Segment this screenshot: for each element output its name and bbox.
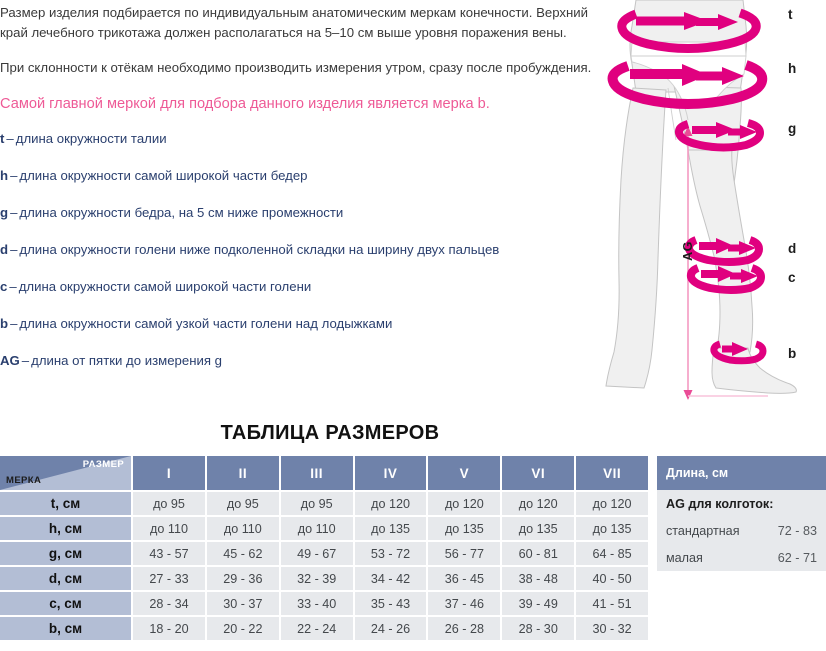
cell: до 135 (500, 515, 574, 540)
cell: 37 - 46 (426, 590, 500, 615)
legend-key: g (0, 205, 8, 220)
measurement-legend: t–длина окружности талии h–длина окружно… (0, 130, 612, 369)
cell: 60 - 81 (500, 540, 574, 565)
diagram-label-d: d (788, 242, 796, 256)
length-panel-body: AG для колготок: стандартная 72 - 83 мал… (657, 490, 826, 571)
cell: 33 - 40 (279, 590, 353, 615)
length-panel: Длина, см AG для колготок: стандартная 7… (657, 456, 826, 571)
length-row-value: 62 - 71 (778, 551, 817, 565)
column-header-4: IV (353, 456, 427, 490)
legend-dash: – (8, 205, 19, 220)
length-panel-subtitle: AG для колготок: (666, 497, 817, 511)
legend-item-h: h–длина окружности самой широкой части б… (0, 167, 612, 184)
corner-size-label: РАЗМЕР (83, 459, 124, 470)
cell: до 120 (574, 490, 648, 515)
diagram-label-h: h (788, 62, 796, 76)
diagram-label-t: t (788, 8, 793, 22)
diagram-label-g: g (788, 122, 796, 136)
intro-text-column: Размер изделия подбирается по индивидуал… (0, 0, 612, 389)
cell: 30 - 37 (205, 590, 279, 615)
legend-item-b: b–длина окружности самой узкой части гол… (0, 315, 612, 332)
table-row: h, см до 110 до 110 до 110 до 135 до 135… (0, 515, 648, 540)
cell: 39 - 49 (500, 590, 574, 615)
column-header-5: V (426, 456, 500, 490)
cell: до 110 (131, 515, 205, 540)
corner-measure-label: МЕРКА (6, 475, 41, 486)
row-label-g: g, см (0, 540, 131, 565)
cell: 28 - 30 (500, 615, 574, 640)
cell: 40 - 50 (574, 565, 648, 590)
row-label-h: h, см (0, 515, 131, 540)
cell: 64 - 85 (574, 540, 648, 565)
inner-thigh-line (668, 88, 676, 140)
highlight-note: Самой главной меркой для подбора данного… (0, 94, 612, 114)
cell: до 135 (574, 515, 648, 540)
cell: 30 - 32 (574, 615, 648, 640)
column-header-6: VI (500, 456, 574, 490)
legend-dash: – (4, 131, 15, 146)
table-row: d, см 27 - 33 29 - 36 32 - 39 34 - 42 36… (0, 565, 648, 590)
length-panel-header: Длина, см (657, 456, 826, 490)
cell: до 95 (205, 490, 279, 515)
size-table-title: ТАБЛИЦА РАЗМЕРОВ (0, 422, 660, 445)
legend-item-c: c–длина окружности самой широкой части г… (0, 278, 612, 295)
ring-c (691, 266, 761, 290)
cell: 24 - 26 (353, 615, 427, 640)
cell: 22 - 24 (279, 615, 353, 640)
row-label-t: t, см (0, 490, 131, 515)
legend-description: длина окружности бедра, на 5 см ниже про… (19, 205, 343, 220)
cell: до 95 (131, 490, 205, 515)
diagram-label-c: c (788, 271, 796, 285)
legend-key: AG (0, 353, 20, 368)
cell: 20 - 22 (205, 615, 279, 640)
cell: 35 - 43 (353, 590, 427, 615)
legend-key: d (0, 242, 8, 257)
cell: до 120 (353, 490, 427, 515)
length-row-value: 72 - 83 (778, 524, 817, 538)
table-row: g, см 43 - 57 45 - 62 49 - 67 53 - 72 56… (0, 540, 648, 565)
cell: до 95 (279, 490, 353, 515)
cell: до 110 (279, 515, 353, 540)
row-label-d: d, см (0, 565, 131, 590)
cell: 49 - 67 (279, 540, 353, 565)
cell: до 120 (426, 490, 500, 515)
table-row: c, см 28 - 34 30 - 37 33 - 40 35 - 43 37… (0, 590, 648, 615)
legend-key: b (0, 316, 8, 331)
length-row-name: малая (666, 551, 778, 565)
legend-description: длина окружности самой узкой части голен… (19, 316, 392, 331)
near-foot (712, 348, 796, 393)
column-header-1: I (131, 456, 205, 490)
legend-key: h (0, 168, 8, 183)
length-row-standard: стандартная 72 - 83 (657, 517, 826, 544)
table-row: b, см 18 - 20 20 - 22 22 - 24 24 - 26 26… (0, 615, 648, 640)
legend-dash: – (8, 242, 19, 257)
diagram-label-ag: AG (681, 241, 695, 261)
cell: 28 - 34 (131, 590, 205, 615)
cell: 41 - 51 (574, 590, 648, 615)
column-header-3: III (279, 456, 353, 490)
legend-dash: – (8, 168, 19, 183)
column-header-2: II (205, 456, 279, 490)
cell: до 120 (500, 490, 574, 515)
cell: 26 - 28 (426, 615, 500, 640)
cell: до 135 (426, 515, 500, 540)
cell: 53 - 72 (353, 540, 427, 565)
intro-paragraph-2: При склонности к отёкам необходимо произ… (0, 58, 600, 78)
legend-description: длина от пятки до измерения g (31, 353, 222, 368)
cell: 56 - 77 (426, 540, 500, 565)
size-table-header-row: РАЗМЕР МЕРКА I II III IV V VI VII (0, 456, 648, 490)
legend-description: длина окружности голени ниже подколенной… (19, 242, 499, 257)
size-table: РАЗМЕР МЕРКА I II III IV V VI VII t, см … (0, 456, 648, 640)
length-row-name: стандартная (666, 524, 778, 538)
length-panel-subtitle-row: AG для колготок: (657, 490, 826, 517)
row-label-c: c, см (0, 590, 131, 615)
legend-description: длина окружности самой широкой части бед… (19, 168, 307, 183)
intro-paragraph-1: Размер изделия подбирается по индивидуал… (0, 3, 600, 42)
legend-item-t: t–длина окружности талии (0, 130, 612, 147)
cell: 29 - 36 (205, 565, 279, 590)
anatomy-diagram: t h g d c b AG (600, 0, 826, 410)
legend-item-ag: AG–длина от пятки до измерения g (0, 352, 612, 369)
legend-dash: – (20, 353, 31, 368)
cell: 34 - 42 (353, 565, 427, 590)
cell: 43 - 57 (131, 540, 205, 565)
table-corner-cell: РАЗМЕР МЕРКА (0, 456, 131, 490)
far-leg (606, 88, 666, 388)
cell: до 135 (353, 515, 427, 540)
row-label-b: b, см (0, 615, 131, 640)
legend-dash: – (7, 279, 18, 294)
cell: 45 - 62 (205, 540, 279, 565)
legend-description: длина окружности самой широкой части гол… (19, 279, 312, 294)
cell: 32 - 39 (279, 565, 353, 590)
legend-item-d: d–длина окружности голени ниже подколенн… (0, 241, 612, 258)
table-row: t, см до 95 до 95 до 95 до 120 до 120 до… (0, 490, 648, 515)
legend-item-g: g–длина окружности бедра, на 5 см ниже п… (0, 204, 612, 221)
legend-description: длина окружности талии (16, 131, 167, 146)
cell: 36 - 45 (426, 565, 500, 590)
diagram-label-b: b (788, 347, 796, 361)
length-row-small: малая 62 - 71 (657, 544, 826, 571)
cell: 27 - 33 (131, 565, 205, 590)
ring-d (689, 238, 759, 262)
column-header-7: VII (574, 456, 648, 490)
cell: до 110 (205, 515, 279, 540)
cell: 38 - 48 (500, 565, 574, 590)
legend-dash: – (8, 316, 19, 331)
cell: 18 - 20 (131, 615, 205, 640)
